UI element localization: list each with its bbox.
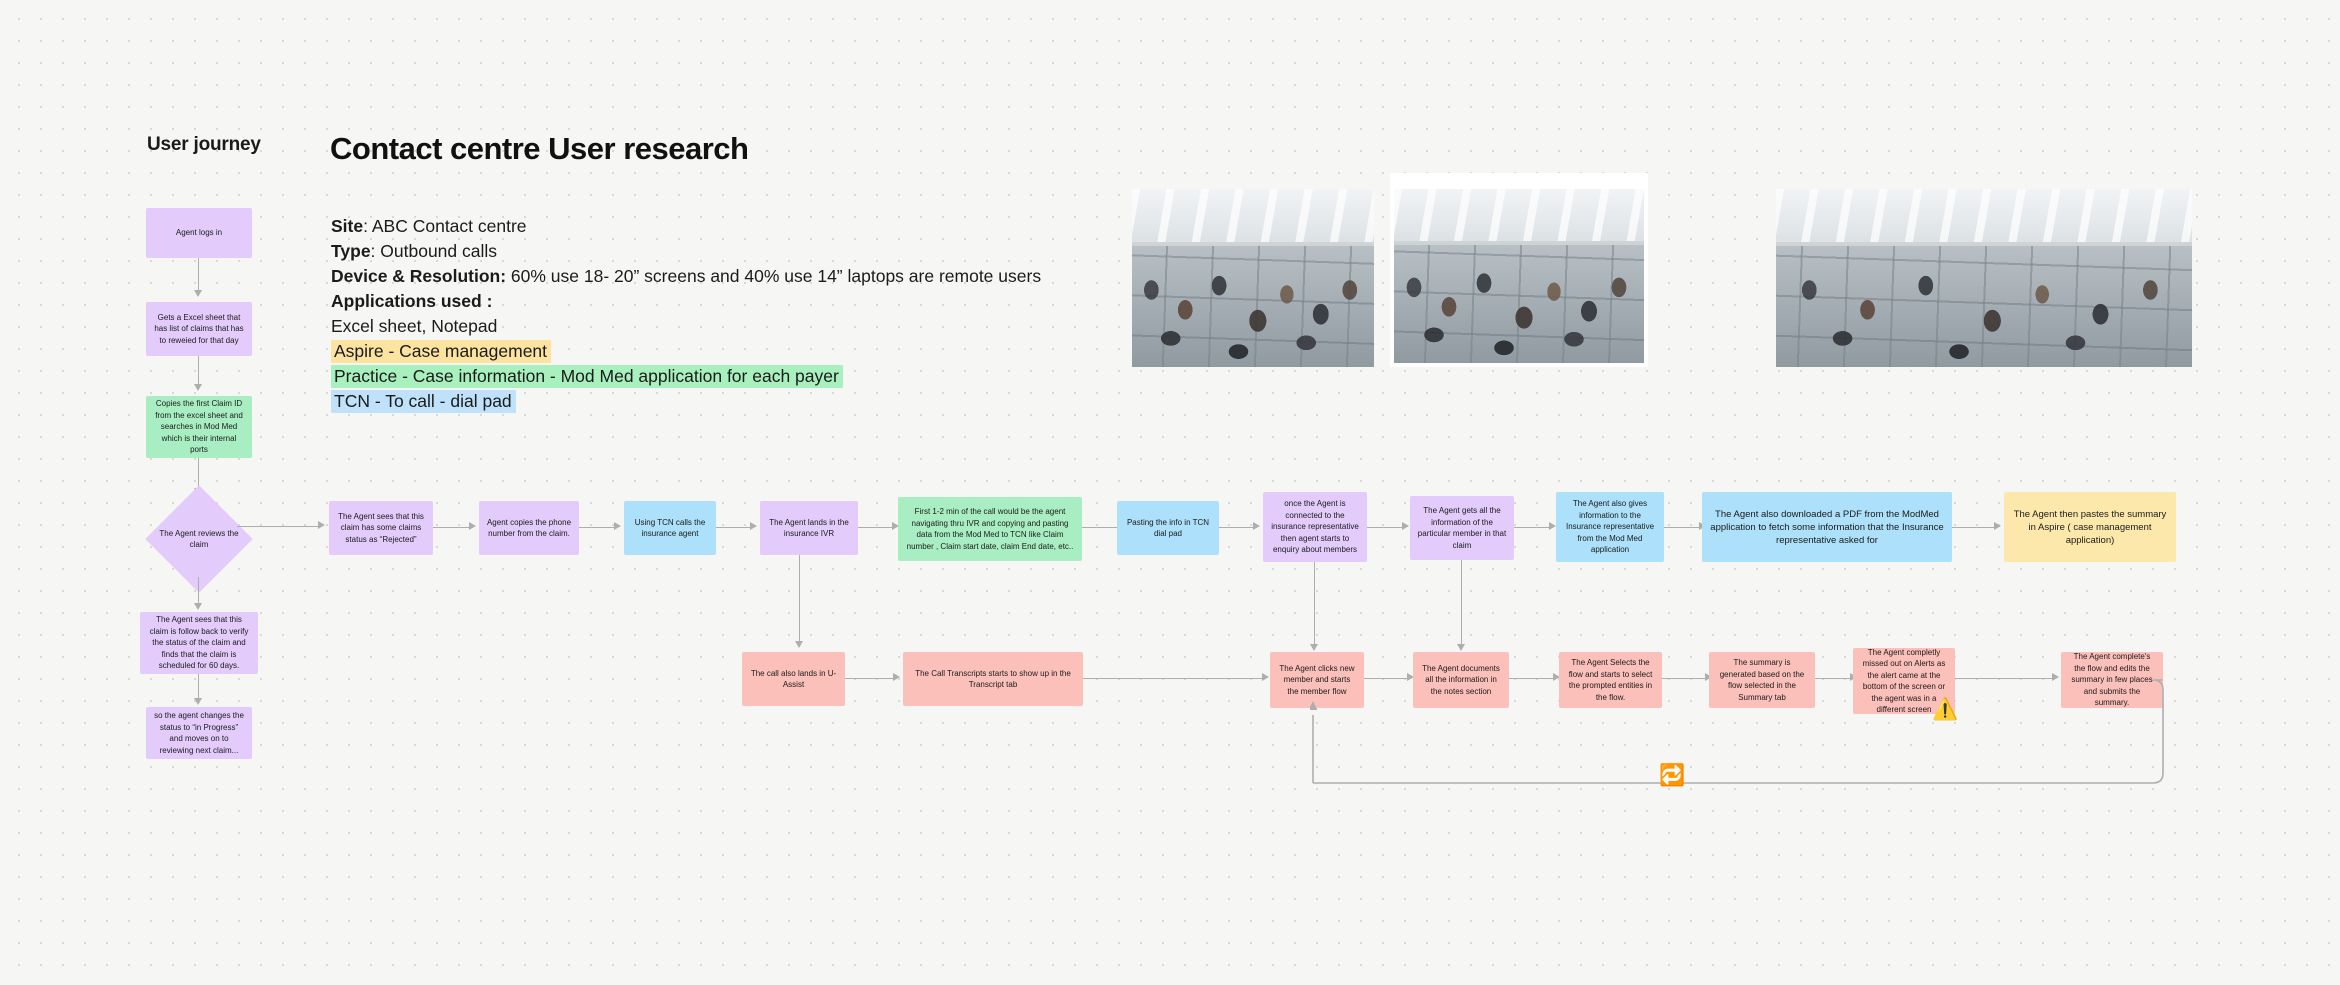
call-centre-photo-2 bbox=[1390, 173, 1648, 367]
meta-type: Type: Outbound calls bbox=[331, 239, 1041, 264]
node-paste-info-tcn[interactable]: Pasting the info in TCN dial pad bbox=[1117, 501, 1219, 555]
meta-app-aspire-row: Aspire - Case management bbox=[331, 339, 1041, 364]
arrow-right-0 bbox=[318, 521, 325, 529]
node-agent-logs-in[interactable]: Agent logs in bbox=[146, 208, 252, 258]
connector-m6 bbox=[1219, 527, 1256, 528]
connector-m3 bbox=[716, 527, 753, 528]
arrow-right-6 bbox=[1253, 522, 1260, 530]
connector-m1 bbox=[433, 527, 472, 528]
meta-device: Device & Resolution: 60% use 18- 20” scr… bbox=[331, 264, 1041, 289]
call-centre-photo-1 bbox=[1132, 189, 1374, 367]
node-connected-to-representative[interactable]: once the Agent is connected to the insur… bbox=[1263, 492, 1367, 562]
connector-review-to-main-row bbox=[237, 526, 321, 527]
arrow-right-12 bbox=[1262, 673, 1269, 681]
connector-memberinfo-down bbox=[1461, 560, 1462, 648]
arrow-down-7 bbox=[1310, 644, 1318, 651]
meta-type-value: : Outbound calls bbox=[371, 241, 497, 261]
node-status-in-progress[interactable]: so the agent changes the status to “in P… bbox=[146, 707, 252, 759]
meta-site: Site: ABC Contact centre bbox=[331, 214, 1041, 239]
connector-m4 bbox=[858, 527, 895, 528]
node-paste-summary-aspire[interactable]: The Agent then pastes the summary in Asp… bbox=[2004, 492, 2176, 562]
meta-apps-key: Applications used : bbox=[331, 291, 492, 311]
node-claim-rejected[interactable]: The Agent sees that this claim has some … bbox=[329, 501, 433, 555]
node-tcn-calls-insurance[interactable]: Using TCN calls the insurance agent bbox=[624, 501, 716, 555]
connector-connected-down bbox=[1314, 562, 1315, 648]
connector-m8 bbox=[1514, 527, 1552, 528]
arrow-right-7 bbox=[1402, 522, 1409, 530]
node-lands-in-ivr[interactable]: The Agent lands in the insurance IVR bbox=[760, 501, 858, 555]
arrow-down-8 bbox=[1457, 644, 1465, 651]
meta-device-value: 60% use 18- 20” screens and 40% use 14” … bbox=[506, 266, 1041, 286]
meta-apps-header: Applications used : bbox=[331, 289, 1041, 314]
node-copies-claim-id[interactable]: Copies the first Claim ID from the excel… bbox=[146, 396, 252, 458]
connector-m10 bbox=[1952, 527, 1997, 528]
meta-site-key: Site bbox=[331, 216, 363, 236]
node-ivr-navigation-copy-paste[interactable]: First 1-2 min of the call would be the a… bbox=[898, 497, 1082, 561]
connector-l1 bbox=[845, 678, 896, 679]
connector-login-to-excel bbox=[198, 258, 199, 294]
whiteboard-canvas[interactable]: User journey Contact centre User researc… bbox=[0, 0, 2340, 985]
meta-app-tcn: TCN - To call - dial pad bbox=[331, 390, 516, 413]
node-call-lands-u-assist[interactable]: The call also lands in U-Assist bbox=[742, 652, 845, 706]
research-meta-block: Site: ABC Contact centre Type: Outbound … bbox=[331, 214, 1041, 414]
meta-app-tcn-row: TCN - To call - dial pad bbox=[331, 389, 1041, 414]
meta-device-key: Device & Resolution: bbox=[331, 266, 506, 286]
arrow-right-10 bbox=[1994, 522, 2001, 530]
arrow-down-2 bbox=[194, 384, 202, 391]
user-journey-label: User journey bbox=[147, 134, 261, 156]
meta-apps-plain: Excel sheet, Notepad bbox=[331, 314, 1041, 339]
meta-app-aspire: Aspire - Case management bbox=[331, 340, 551, 363]
meta-app-practice: Practice - Case information - Mod Med ap… bbox=[331, 365, 843, 388]
connector-ivr-down bbox=[799, 555, 800, 645]
node-follow-back-verify[interactable]: The Agent sees that this claim is follow… bbox=[140, 612, 258, 674]
arrow-down-5 bbox=[194, 698, 202, 705]
arrow-right-11 bbox=[893, 673, 900, 681]
arrow-down-4 bbox=[194, 603, 202, 610]
arrow-right-3 bbox=[750, 522, 757, 530]
call-centre-photo-3 bbox=[1776, 189, 2192, 367]
node-call-transcripts[interactable]: The Call Transcripts starts to show up i… bbox=[903, 652, 1083, 706]
arrow-right-2 bbox=[614, 522, 621, 530]
meta-type-key: Type bbox=[331, 241, 371, 261]
connector-l2 bbox=[1083, 678, 1265, 679]
meta-site-value: : ABC Contact centre bbox=[363, 216, 526, 236]
arrow-right-8 bbox=[1549, 522, 1556, 530]
connector-m5 bbox=[1082, 527, 1120, 528]
arrow-down-6 bbox=[795, 641, 803, 648]
node-gets-member-information[interactable]: The Agent gets all the information of th… bbox=[1410, 496, 1514, 560]
connector-m2 bbox=[579, 527, 617, 528]
node-gets-excel-sheet[interactable]: Gets a Excel sheet that has list of clai… bbox=[146, 302, 252, 356]
meta-app-practice-row: Practice - Case information - Mod Med ap… bbox=[331, 364, 1041, 389]
node-downloaded-pdf[interactable]: The Agent also downloaded a PDF from the… bbox=[1702, 492, 1952, 562]
arrow-right-1 bbox=[469, 522, 476, 530]
loopback-connector bbox=[1310, 675, 2180, 785]
node-gives-info-to-representative[interactable]: The Agent also gives information to the … bbox=[1556, 492, 1664, 562]
arrow-down-1 bbox=[194, 290, 202, 297]
connector-m9 bbox=[1664, 527, 1702, 528]
page-title: Contact centre User research bbox=[330, 131, 748, 167]
connector-m7 bbox=[1367, 527, 1405, 528]
loop-refresh-icon: 🔁 bbox=[1659, 765, 1685, 786]
node-copy-phone-number[interactable]: Agent copies the phone number from the c… bbox=[479, 501, 579, 555]
